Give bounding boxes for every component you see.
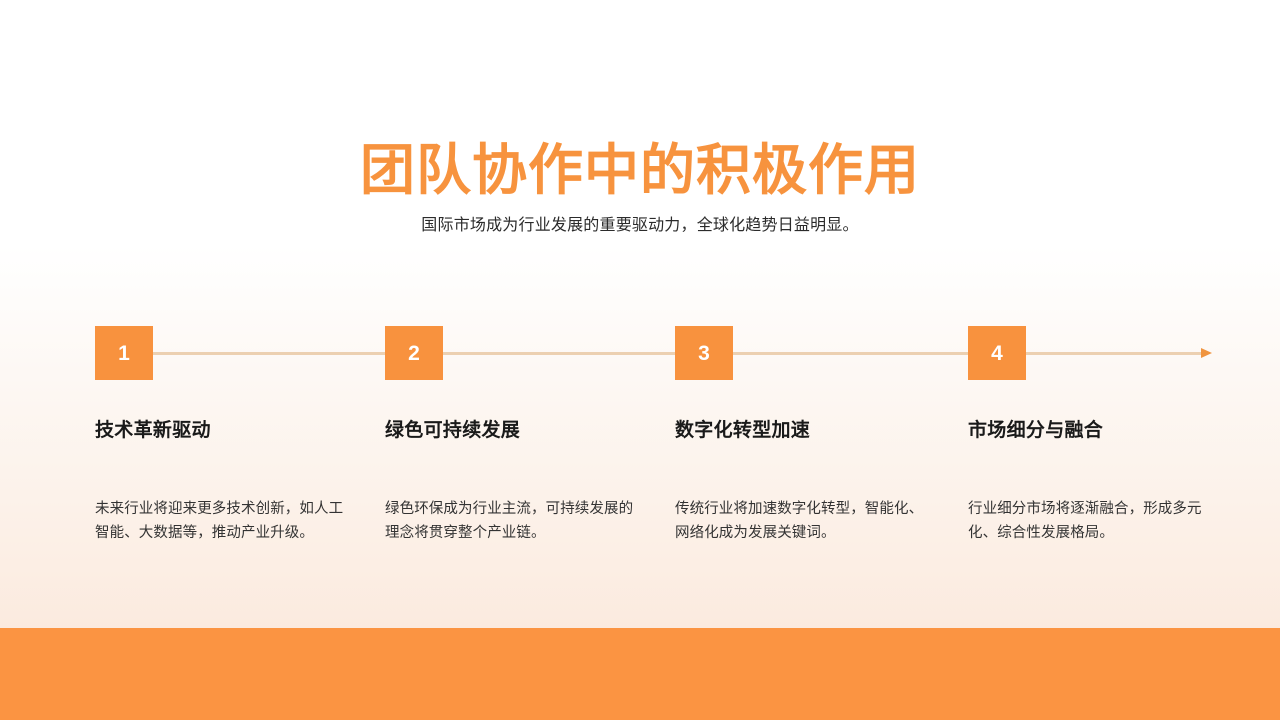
step-heading: 绿色可持续发展 — [385, 418, 647, 444]
step-number-badge: 1 — [95, 326, 153, 380]
step-number-label: 4 — [991, 343, 1003, 364]
step-heading: 数字化转型加速 — [675, 418, 937, 444]
step-number-badge: 3 — [675, 326, 733, 380]
slide-canvas: 团队协作中的积极作用 国际市场成为行业发展的重要驱动力，全球化趋势日益明显。 1… — [0, 0, 1280, 720]
step-heading: 技术革新驱动 — [95, 418, 357, 444]
step-number-label: 2 — [408, 343, 420, 364]
footer-bar — [0, 628, 1280, 720]
step-body-text: 传统行业将加速数字化转型，智能化、网络化成为发展关键词。 — [675, 497, 933, 545]
step-number-badge: 4 — [968, 326, 1026, 380]
step-number-badge: 2 — [385, 326, 443, 380]
step-body-text: 绿色环保成为行业主流，可持续发展的理念将贯穿整个产业链。 — [385, 497, 643, 545]
page-subtitle: 国际市场成为行业发展的重要驱动力，全球化趋势日益明显。 — [0, 214, 1280, 238]
step-body-text: 行业细分市场将逐渐融合，形成多元化、综合性发展格局。 — [968, 497, 1226, 545]
timeline-step-1[interactable]: 1 技术革新驱动 未来行业将迎来更多技术创新，如人工智能、大数据等，推动产业升级… — [95, 326, 357, 545]
step-body-text: 未来行业将迎来更多技术创新，如人工智能、大数据等，推动产业升级。 — [95, 497, 353, 545]
timeline-steps: 1 技术革新驱动 未来行业将迎来更多技术创新，如人工智能、大数据等，推动产业升级… — [95, 326, 1212, 596]
step-heading: 市场细分与融合 — [968, 418, 1230, 444]
step-number-label: 1 — [118, 343, 130, 364]
step-number-label: 3 — [698, 343, 710, 364]
slide-header: 团队协作中的积极作用 国际市场成为行业发展的重要驱动力，全球化趋势日益明显。 — [0, 138, 1280, 238]
timeline-step-3[interactable]: 3 数字化转型加速 传统行业将加速数字化转型，智能化、网络化成为发展关键词。 — [675, 326, 937, 545]
timeline-step-4[interactable]: 4 市场细分与融合 行业细分市场将逐渐融合，形成多元化、综合性发展格局。 — [968, 326, 1230, 545]
page-title: 团队协作中的积极作用 — [0, 138, 1280, 202]
timeline-step-2[interactable]: 2 绿色可持续发展 绿色环保成为行业主流，可持续发展的理念将贯穿整个产业链。 — [385, 326, 647, 545]
